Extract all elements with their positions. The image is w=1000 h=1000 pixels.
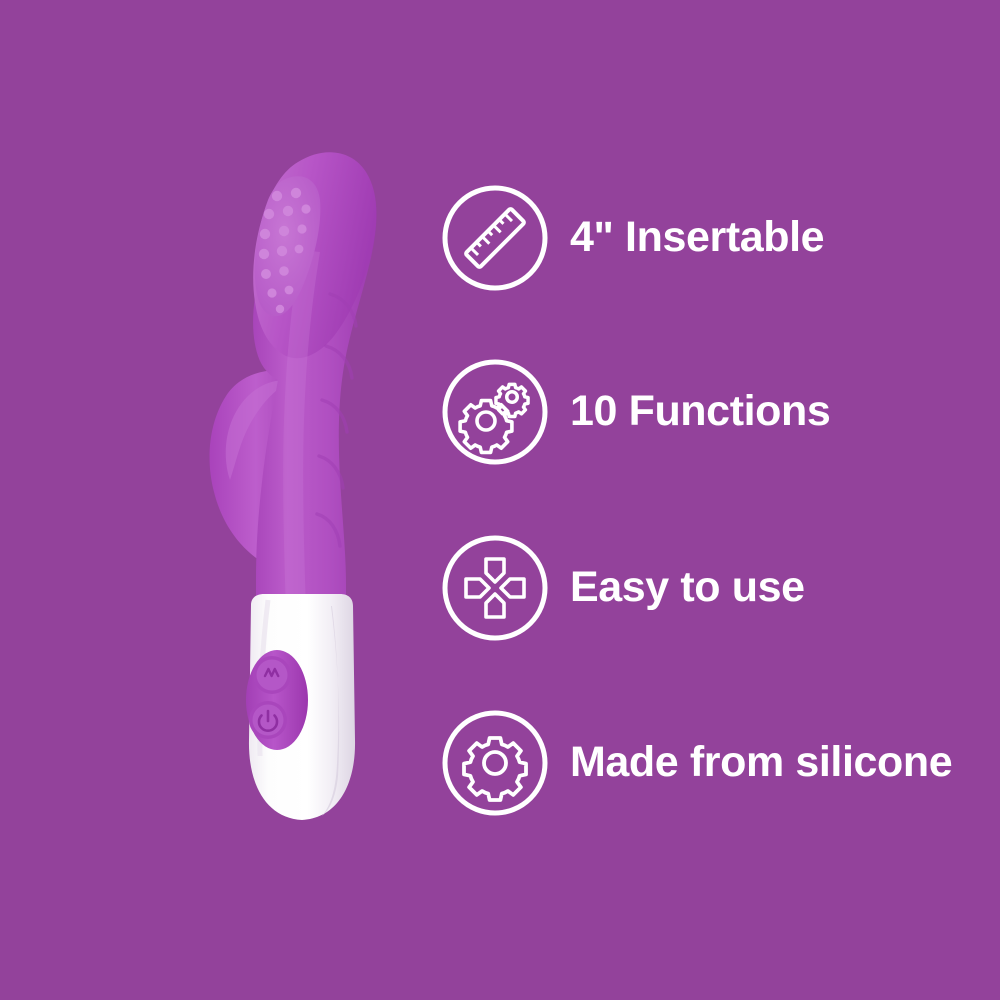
feature-row-easy-to-use: Easy to use — [440, 528, 1000, 648]
feature-label: 4" Insertable — [570, 215, 1000, 260]
feature-label: Made from silicone — [570, 740, 1000, 785]
ruler-icon — [440, 183, 550, 293]
gears-icon — [440, 357, 550, 467]
infographic-canvas: 4" Insertable — [0, 0, 1000, 1000]
feature-label: Easy to use — [570, 565, 1000, 610]
feature-row-insertable: 4" Insertable — [440, 178, 1000, 298]
product-image — [0, 0, 430, 1000]
feature-row-functions: 10 Functions — [440, 352, 1000, 472]
feature-label: 10 Functions — [570, 389, 1000, 434]
product-power-button — [249, 701, 287, 739]
gear-icon — [440, 708, 550, 818]
feature-list: 4" Insertable — [440, 168, 1000, 838]
dpad-icon — [440, 533, 550, 643]
product-mode-button — [253, 656, 291, 694]
product-handle — [246, 594, 355, 820]
feature-row-silicone: Made from silicone — [440, 703, 1000, 823]
